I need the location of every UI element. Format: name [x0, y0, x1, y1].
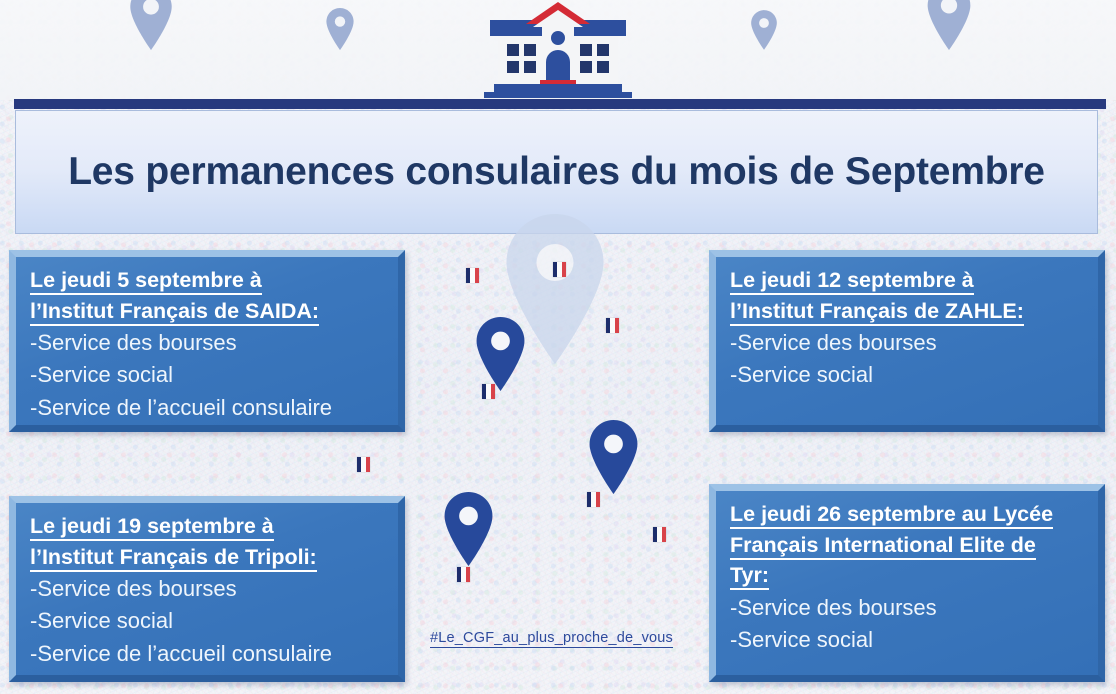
map-pin-icon: [325, 8, 355, 50]
french-flag-icon: [457, 567, 470, 582]
french-flag-icon: [466, 268, 479, 283]
card-heading: Le jeudi 19 septembre à l’Institut Franç…: [30, 511, 386, 572]
session-card-zahle: Le jeudi 12 septembre à l’Institut Franç…: [709, 250, 1105, 432]
service-item: -Service social: [30, 605, 386, 637]
service-item: -Service social: [30, 359, 386, 391]
card-heading: Le jeudi 5 septembre à l’Institut França…: [30, 265, 386, 326]
session-card-tripoli: Le jeudi 19 septembre à l’Institut Franç…: [9, 496, 405, 682]
french-flag-icon: [606, 318, 619, 333]
service-item: -Service des bourses: [730, 327, 1086, 359]
map-pin-icon: [128, 0, 174, 50]
map-pin-icon: [441, 492, 496, 566]
map-pin-icon: [750, 10, 778, 50]
page-title: Les permanences consulaires du mois de S…: [59, 146, 1054, 199]
french-flag-icon: [587, 492, 600, 507]
service-item: -Service des bourses: [730, 592, 1086, 624]
card-heading: Le jeudi 26 septembre au Lycée Français …: [730, 499, 1086, 591]
service-item: -Service social: [730, 624, 1086, 656]
map-pin-icon: [925, 0, 973, 50]
french-flag-icon: [653, 527, 666, 542]
map-pin-icon: [473, 317, 528, 391]
session-card-tyr: Le jeudi 26 septembre au Lycée Français …: [709, 484, 1105, 682]
service-item: -Service de l’accueil consulaire: [30, 638, 386, 670]
french-flag-icon: [482, 384, 495, 399]
service-item: -Service social: [730, 359, 1086, 391]
service-item: -Service des bourses: [30, 327, 386, 359]
service-item: -Service des bourses: [30, 573, 386, 605]
map-pin-icon: [586, 420, 641, 494]
session-card-saida: Le jeudi 5 septembre à l’Institut França…: [9, 250, 405, 432]
school-building-icon: [484, 0, 632, 98]
poster-canvas: Les permanences consulaires du mois de S…: [0, 0, 1116, 694]
service-item: -Service de l’accueil consulaire: [30, 392, 386, 424]
french-flag-icon: [357, 457, 370, 472]
title-top-rule: [14, 99, 1106, 109]
hashtag-link[interactable]: #Le_CGF_au_plus_proche_de_vous: [430, 630, 673, 648]
french-flag-icon: [553, 262, 566, 277]
card-heading: Le jeudi 12 septembre à l’Institut Franç…: [730, 265, 1086, 326]
